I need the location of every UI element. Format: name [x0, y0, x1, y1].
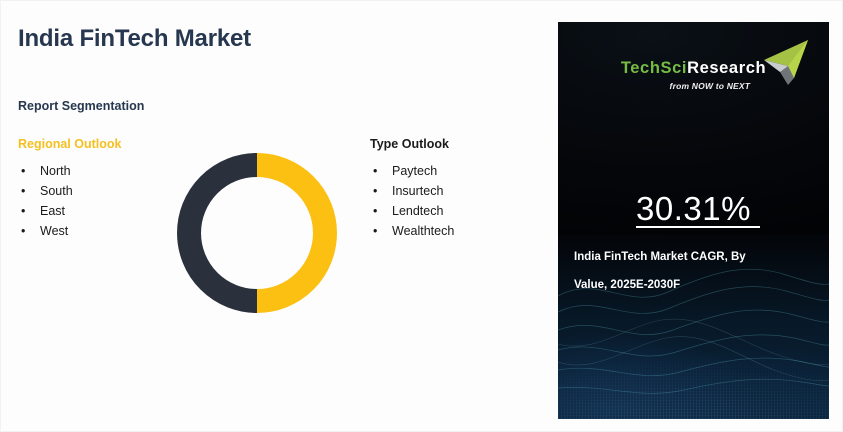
type-outlook-heading: Type Outlook [370, 138, 454, 152]
bullet-icon: • [21, 181, 25, 201]
list-item-label: Insurtech [392, 184, 443, 198]
donut-chart [177, 153, 337, 313]
cagr-caption-line-1: India FinTech Market CAGR, By [574, 243, 817, 271]
logo-word-research: Research [687, 59, 766, 77]
list-item-label: West [40, 224, 68, 238]
bullet-icon: • [21, 161, 25, 181]
list-item: • Paytech [370, 161, 454, 181]
techsci-research-logo: TechSciResearch from NOW to NEXT [558, 60, 829, 112]
section-subtitle: Report Segmentation [18, 99, 144, 113]
list-item-label: Wealthtech [392, 224, 454, 238]
donut-segment [189, 165, 257, 301]
donut-segment [257, 165, 325, 301]
cagr-caption: India FinTech Market CAGR, By Value, 202… [574, 243, 817, 299]
bullet-icon: • [373, 221, 377, 241]
list-item: • South [18, 181, 121, 201]
list-item-label: Paytech [392, 164, 437, 178]
cagr-caption-line-2: Value, 2025E-2030F [574, 271, 817, 299]
list-item: • West [18, 221, 121, 241]
logo-lockup: TechSciResearch from NOW to NEXT [621, 60, 766, 91]
list-item-label: South [40, 184, 73, 198]
bullet-icon: • [21, 201, 25, 221]
type-outlook-block: Type Outlook • Paytech • Insurtech • Len… [370, 138, 454, 241]
bullet-icon: • [373, 181, 377, 201]
regional-outlook-list: • North • South • East • West [18, 161, 121, 241]
list-item: • Lendtech [370, 201, 454, 221]
arrow-swoosh-icon [758, 38, 810, 90]
page-title: India FinTech Market [18, 25, 251, 53]
type-outlook-list: • Paytech • Insurtech • Lendtech • Wealt… [370, 161, 454, 241]
logo-tagline: from NOW to NEXT [621, 81, 766, 91]
list-item: • North [18, 161, 121, 181]
cagr-stat-card: TechSciResearch from NOW to NEXT 30.31% … [558, 22, 829, 419]
list-item: • Insurtech [370, 181, 454, 201]
logo-word-techsci: TechSci [621, 59, 687, 77]
list-item-label: North [40, 164, 71, 178]
infographic-canvas: India FinTech Market Report Segmentation… [0, 0, 843, 432]
list-item: • Wealthtech [370, 221, 454, 241]
bullet-icon: • [21, 221, 25, 241]
logo-wordmark: TechSciResearch [621, 59, 766, 77]
stat-divider [636, 226, 760, 228]
donut-chart-svg [177, 153, 337, 313]
regional-outlook-heading: Regional Outlook [18, 138, 121, 152]
left-content-panel: India FinTech Market Report Segmentation… [1, 1, 557, 432]
list-item-label: Lendtech [392, 204, 443, 218]
regional-outlook-block: Regional Outlook • North • South • East … [18, 138, 121, 241]
bullet-icon: • [373, 161, 377, 181]
list-item: • East [18, 201, 121, 221]
cagr-value: 30.31% [558, 190, 829, 228]
list-item-label: East [40, 204, 65, 218]
bullet-icon: • [373, 201, 377, 221]
